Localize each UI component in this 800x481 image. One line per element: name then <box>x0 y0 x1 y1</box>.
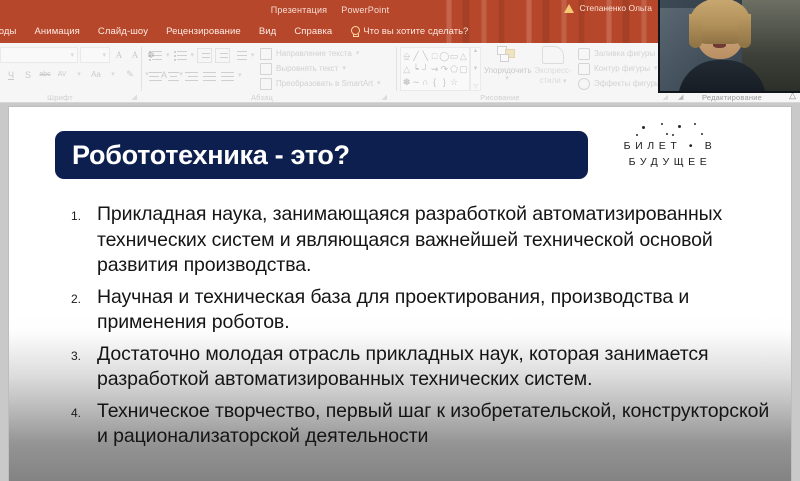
shape-outline-command[interactable]: Контур фигуры ▾ <box>578 61 668 76</box>
numbering-dropdown[interactable]: ▾ <box>191 52 195 59</box>
ribbon-tab-view[interactable]: Вид <box>250 23 286 40</box>
lightbulb-icon <box>349 26 360 37</box>
strikethrough-button[interactable]: abc <box>38 67 52 82</box>
list-item: 1. Прикладная наука, занимающаяся разраб… <box>71 202 779 279</box>
ribbon-tab-help[interactable]: Справка <box>285 23 341 40</box>
shape-arrow-right[interactable]: ⇝ <box>430 63 439 76</box>
bullets-dropdown[interactable]: ▾ <box>166 52 170 59</box>
shape-triangle-up[interactable]: △ <box>459 50 468 63</box>
ribbon-tab-review[interactable]: Рецензирование <box>157 23 250 40</box>
decrease-font-size-button[interactable]: A <box>128 48 142 63</box>
line-spacing-button[interactable] <box>233 48 248 63</box>
character-spacing-dropdown[interactable]: ▾ <box>72 67 86 82</box>
slide-canvas[interactable]: Робототехника - это? БИЛЕТ • В БУДУЩЕЕ <box>8 106 792 481</box>
group-label-font: Шрифт <box>0 93 120 102</box>
list-item-number: 1. <box>71 202 97 279</box>
numbering-button[interactable] <box>173 48 188 63</box>
font-family-combo[interactable]: ▾ <box>0 47 78 63</box>
align-right-button[interactable] <box>184 68 199 83</box>
character-spacing-button[interactable]: AV <box>55 67 69 82</box>
tell-me-input[interactable]: Что вы хотите сделать? <box>363 26 468 37</box>
change-case-dropdown[interactable]: ▾ <box>106 67 120 82</box>
presenter-video-feed[interactable] <box>658 0 800 93</box>
shape-curve[interactable]: ∼ <box>411 76 420 89</box>
logo-line-2: БУДУЩЕЕ <box>606 154 734 170</box>
account-area[interactable]: Степаненко Ольга <box>564 3 652 13</box>
list-item: 3. Достаточно молодая отрасль прикладных… <box>71 342 779 393</box>
arrange-dropdown-icon[interactable]: ▾ <box>484 75 530 82</box>
presenter-hair <box>690 0 750 44</box>
shape-fill-icon <box>578 48 590 60</box>
window-title-app: PowerPoint <box>341 5 389 15</box>
group-divider-2 <box>396 47 397 91</box>
quick-styles-icon <box>542 46 564 64</box>
underline-button[interactable]: Ч <box>4 67 18 82</box>
list-item-text: Достаточно молодая отрасль прикладных на… <box>97 342 779 393</box>
shape-elbow-2[interactable]: ┘ <box>421 63 430 76</box>
warning-triangle-icon <box>564 4 574 13</box>
list-item-text: Техническое творчество, первый шаг к изо… <box>97 399 779 450</box>
shapes-scroll-up-icon[interactable]: ▲ <box>473 48 479 54</box>
list-item-text: Прикладная наука, занимающаяся разработк… <box>97 202 779 279</box>
shape-oval[interactable]: ◯ <box>439 50 449 63</box>
text-direction-icon <box>260 48 272 60</box>
shape-brace-right[interactable]: } <box>439 76 449 89</box>
shape-fill-command[interactable]: Заливка фигуры ▾ <box>578 46 668 61</box>
align-center-button[interactable] <box>166 68 181 83</box>
ribbon-tab-slideshow[interactable]: Слайд-шоу <box>89 23 157 40</box>
list-item: 4. Техническое творчество, первый шаг к … <box>71 399 779 450</box>
text-direction-command[interactable]: Направление текста ▾ <box>260 46 381 61</box>
account-user-name: Степаненко Ольга <box>579 3 652 13</box>
smartart-icon <box>260 78 272 90</box>
change-case-button[interactable]: Aa <box>89 67 103 82</box>
shapes-gallery-scrollbar[interactable]: ▲ ▼ ▽ <box>470 47 481 91</box>
shape-effects-icon <box>578 78 590 90</box>
ribbon-tab-animation[interactable]: Анимация <box>26 23 89 40</box>
shapes-scroll-down-icon[interactable]: ▼ <box>473 66 479 72</box>
shape-arc[interactable]: ∩ <box>421 76 430 89</box>
drawing-dialog-launcher[interactable]: ◢ <box>663 93 668 101</box>
list-item-number: 2. <box>71 285 97 336</box>
shape-triangle[interactable]: △ <box>402 63 411 76</box>
shape-rectangle[interactable]: □ <box>430 50 439 63</box>
arrange-icon <box>497 46 517 64</box>
ribbon-group-paragraph: ▾ ▾ ▾ <box>142 43 395 103</box>
shape-scribble[interactable]: ✽ <box>402 76 411 89</box>
shape-brace-left[interactable]: { <box>430 76 439 89</box>
drawing-command-list: Заливка фигуры ▾ Контур фигуры ▾ Эффекты… <box>578 46 668 91</box>
justify-button[interactable] <box>202 68 217 83</box>
text-direction-label: Направление текста <box>276 49 352 58</box>
font-dialog-launcher[interactable]: ◢ <box>132 93 137 101</box>
shape-line[interactable]: ╱ <box>411 50 420 63</box>
shape-textbox[interactable]: ⎒ <box>402 50 411 63</box>
shape-more[interactable] <box>459 76 468 89</box>
list-item-number: 3. <box>71 342 97 393</box>
font-row-top: ▾ ▾ A A ✽ <box>0 47 158 63</box>
logo-line-1: БИЛЕТ • В <box>606 138 734 154</box>
shape-arrow-curve[interactable]: ↷ <box>439 63 449 76</box>
columns-button[interactable] <box>220 68 235 83</box>
decrease-indent-button[interactable] <box>197 48 212 63</box>
align-text-icon <box>260 63 272 75</box>
ribbon-tab-transitions[interactable]: ходы <box>0 23 26 40</box>
list-item-text: Научная и техническая база для проектиро… <box>97 285 779 336</box>
align-text-label: Выровнять текст <box>276 64 338 73</box>
shape-effects-command[interactable]: Эффекты фигуры ▾ <box>578 76 668 91</box>
bullets-button[interactable] <box>148 48 163 63</box>
paragraph-dialog-launcher[interactable]: ◢ <box>382 93 387 101</box>
paragraph-command-list: Направление текста ▾ Выровнять текст ▾ П… <box>260 46 381 91</box>
group-label-drawing: Рисование <box>400 93 600 102</box>
shape-elbow[interactable]: ┕ <box>411 63 420 76</box>
align-left-button[interactable] <box>148 68 163 83</box>
convert-smartart-label: Преобразовать в SmartArt <box>276 79 373 88</box>
font-size-combo[interactable]: ▾ <box>80 47 110 63</box>
shape-star[interactable]: ☆ <box>449 76 458 89</box>
bilet-v-budushchee-logo: БИЛЕТ • В БУДУЩЕЕ <box>606 122 734 184</box>
align-text-command[interactable]: Выровнять текст ▾ <box>260 61 381 76</box>
powerpoint-window: Презентация PowerPoint ходы Анимация Сла… <box>0 0 800 481</box>
shape-fill-label: Заливка фигуры <box>594 49 655 58</box>
text-highlight-button[interactable]: ✎ <box>123 67 137 82</box>
shapes-gallery[interactable]: ⎒ ╱ ╲ □ ◯ ▭ △ △ ┕ ┘ ⇝ ↷ ⬠ ▢ ✽ ∼ ∩ { } ☆ <box>400 47 470 91</box>
shape-outline-label: Контур фигуры <box>594 64 650 73</box>
group-label-editing: Редактирование <box>676 93 788 102</box>
quick-styles-button[interactable]: Экспресс-стили ▾ <box>532 46 574 86</box>
window-title-strip: Презентация PowerPoint <box>0 1 660 18</box>
line-spacing-dropdown[interactable]: ▾ <box>251 52 255 59</box>
increase-font-size-button[interactable]: A <box>112 48 126 63</box>
shape-pentagon[interactable]: ⬠ <box>449 63 458 76</box>
text-shadow-button[interactable]: S <box>21 67 35 82</box>
shape-rounded-rect[interactable]: ▭ <box>449 50 458 63</box>
shape-bracket-pair[interactable]: ▢ <box>459 63 468 76</box>
shape-effects-label: Эффекты фигуры <box>594 79 661 88</box>
list-item: 2. Научная и техническая база для проект… <box>71 285 779 336</box>
page-title: Робототехника - это? <box>72 140 350 171</box>
paragraph-row-top: ▾ ▾ ▾ <box>148 48 255 63</box>
arrange-button[interactable]: Упорядочить ▾ <box>484 46 530 82</box>
arrange-label: Упорядочить <box>484 66 532 75</box>
shape-line-arrow[interactable]: ╲ <box>421 50 430 63</box>
shapes-gallery-more-icon[interactable]: ▽ <box>473 83 478 90</box>
logo-stars-decoration <box>606 122 734 138</box>
paragraph-row-bottom: ▾ <box>148 68 242 83</box>
increase-indent-button[interactable] <box>215 48 230 63</box>
list-item-number: 4. <box>71 399 97 450</box>
slide-title-placeholder[interactable]: Робототехника - это? <box>55 131 588 179</box>
columns-dropdown[interactable]: ▾ <box>238 72 242 79</box>
slide-body-placeholder[interactable]: 1. Прикладная наука, занимающаяся разраб… <box>71 202 779 456</box>
ribbon-group-drawing: ⎒ ╱ ╲ □ ◯ ▭ △ △ ┕ ┘ ⇝ ↷ ⬠ ▢ ✽ ∼ ∩ { } ☆ <box>400 43 672 103</box>
window-title-doc: Презентация <box>271 5 328 15</box>
group-label-paragraph: Абзац <box>142 93 382 102</box>
convert-smartart-command[interactable]: Преобразовать в SmartArt ▾ <box>260 76 381 91</box>
slide-editing-area: Робототехника - это? БИЛЕТ • В БУДУЩЕЕ <box>0 103 800 481</box>
ribbon-tab-bar: ходы Анимация Слайд-шоу Рецензирование В… <box>0 20 660 43</box>
ribbon-group-font: ▾ ▾ A A ✽ Ч S abc AV ▾ Aa ▾ ✎ ▾ A ▾ Шриф… <box>0 43 141 103</box>
shape-outline-icon <box>578 63 590 75</box>
editing-dialog-launcher[interactable]: ◢ <box>678 93 683 101</box>
